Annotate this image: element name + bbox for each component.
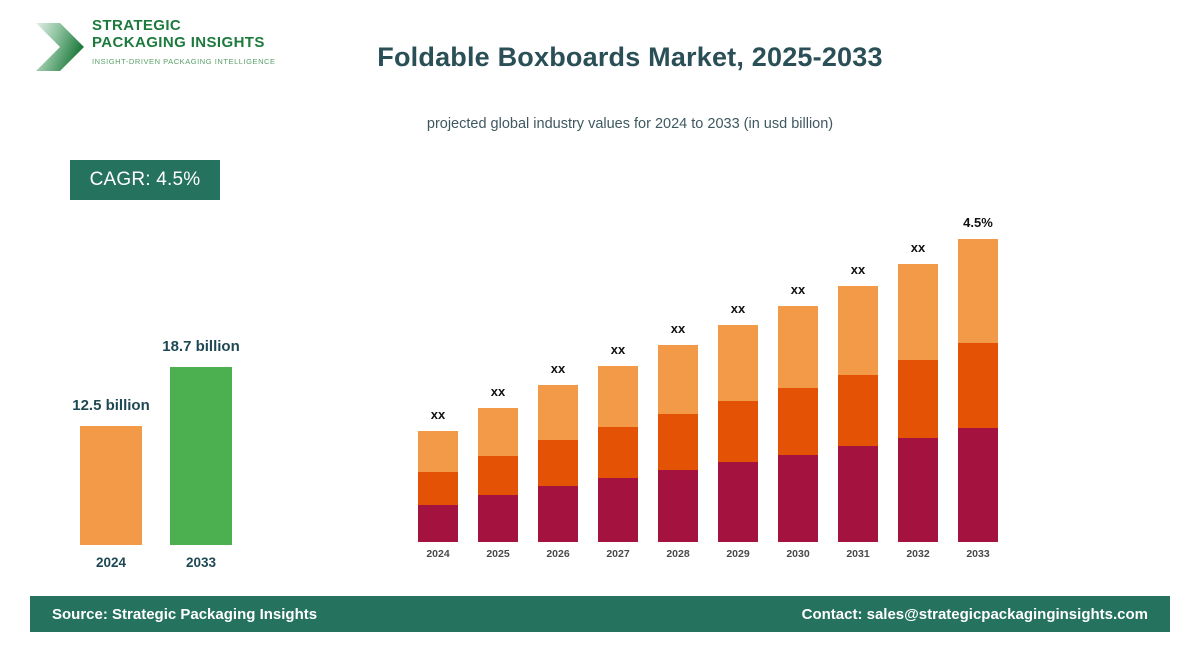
stacked-bar-segment-top bbox=[658, 345, 698, 414]
stacked-bar-segment-top bbox=[718, 325, 758, 401]
stacked-bar-year-label: 2024 bbox=[412, 548, 464, 560]
stacked-bar-segment-bottom bbox=[598, 478, 638, 542]
comparison-bar bbox=[170, 367, 232, 545]
page-title: Foldable Boxboards Market, 2025-2033 bbox=[0, 42, 1200, 73]
stacked-bar-year-label: 2033 bbox=[952, 548, 1004, 560]
stacked-bar-year-label: 2028 bbox=[652, 548, 704, 560]
stacked-bar bbox=[898, 264, 938, 542]
stacked-bar-year-label: 2026 bbox=[532, 548, 584, 560]
stacked-bar-segment-middle bbox=[418, 472, 458, 505]
stacked-bar bbox=[658, 345, 698, 542]
cagr-badge: CAGR: 4.5% bbox=[70, 160, 220, 200]
stacked-bar bbox=[598, 366, 638, 542]
stacked-bar-value-label: xx bbox=[883, 240, 953, 255]
stacked-bar-segment-middle bbox=[598, 427, 638, 478]
stacked-bar-value-label: 4.5% bbox=[943, 215, 1013, 230]
comparison-bar-chart: 202412.5 billion203318.7 billion bbox=[40, 300, 300, 570]
stacked-bar-segment-top bbox=[418, 431, 458, 472]
stacked-bar-year-label: 2032 bbox=[892, 548, 944, 560]
stacked-bar-year-label: 2025 bbox=[472, 548, 524, 560]
stacked-bar-year-label: 2027 bbox=[592, 548, 644, 560]
logo-line-1: STRATEGIC bbox=[92, 18, 276, 35]
stacked-bar-segment-bottom bbox=[958, 428, 998, 542]
stacked-bar-group: 2024xx bbox=[418, 200, 458, 560]
stacked-bar-year-label: 2030 bbox=[772, 548, 824, 560]
stacked-bar-group: 2025xx bbox=[478, 200, 518, 560]
stacked-bar-value-label: xx bbox=[523, 361, 593, 376]
stacked-bar-segment-bottom bbox=[478, 495, 518, 542]
stacked-bar-segment-bottom bbox=[418, 505, 458, 542]
stacked-bar-segment-bottom bbox=[898, 438, 938, 542]
stacked-bar-segment-top bbox=[778, 306, 818, 388]
stacked-bar-value-label: xx bbox=[763, 282, 833, 297]
stacked-bar-value-label: xx bbox=[463, 384, 533, 399]
stacked-bar-group: 2031xx bbox=[838, 200, 878, 560]
stacked-bar-value-label: xx bbox=[403, 407, 473, 422]
stacked-bar-value-label: xx bbox=[703, 301, 773, 316]
stacked-bar bbox=[958, 239, 998, 542]
stacked-bar-segment-top bbox=[958, 239, 998, 343]
stacked-bar bbox=[838, 286, 878, 542]
stacked-bar bbox=[538, 385, 578, 542]
stacked-bar-segment-top bbox=[598, 366, 638, 427]
stacked-bar-group: 2028xx bbox=[658, 200, 698, 560]
stacked-bar-segment-middle bbox=[898, 360, 938, 438]
stacked-bar-segment-middle bbox=[778, 388, 818, 455]
comparison-bar bbox=[80, 426, 142, 545]
stacked-bar-segment-middle bbox=[838, 375, 878, 446]
stacked-bar-chart: 2024xx2025xx2026xx2027xx2028xx2029xx2030… bbox=[400, 200, 1020, 560]
stacked-bar-group: 2032xx bbox=[898, 200, 938, 560]
footer-contact: Contact: sales@strategicpackaginginsight… bbox=[802, 606, 1148, 623]
stacked-bar-segment-top bbox=[838, 286, 878, 375]
footer-source: Source: Strategic Packaging Insights bbox=[52, 606, 317, 623]
stacked-bar-value-label: xx bbox=[823, 262, 893, 277]
comparison-year-label: 2024 bbox=[80, 555, 142, 570]
comparison-year-label: 2033 bbox=[170, 555, 232, 570]
stacked-bar-segment-middle bbox=[718, 401, 758, 462]
stacked-bar-group: 2029xx bbox=[718, 200, 758, 560]
stacked-bar-segment-bottom bbox=[658, 470, 698, 542]
stacked-bar-value-label: xx bbox=[583, 342, 653, 357]
stacked-bar-segment-top bbox=[538, 385, 578, 440]
stacked-bar-group: 2027xx bbox=[598, 200, 638, 560]
stacked-bar-group: 20334.5% bbox=[958, 200, 998, 560]
stacked-bar bbox=[418, 431, 458, 542]
stacked-bar bbox=[778, 306, 818, 542]
stacked-bar-segment-middle bbox=[958, 343, 998, 428]
stacked-bar-segment-middle bbox=[538, 440, 578, 486]
comparison-value-label: 18.7 billion bbox=[121, 338, 281, 355]
stacked-bar-segment-top bbox=[898, 264, 938, 360]
stacked-bar-year-label: 2029 bbox=[712, 548, 764, 560]
stacked-bar-segment-bottom bbox=[778, 455, 818, 542]
stacked-bar-segment-top bbox=[478, 408, 518, 456]
stacked-bar-group: 2030xx bbox=[778, 200, 818, 560]
footer-bar: Source: Strategic Packaging Insights Con… bbox=[30, 596, 1170, 632]
stacked-bar-segment-bottom bbox=[538, 486, 578, 542]
stacked-bar-segment-middle bbox=[478, 456, 518, 495]
stacked-bar bbox=[718, 325, 758, 542]
stacked-bar-year-label: 2031 bbox=[832, 548, 884, 560]
stacked-bar-segment-bottom bbox=[838, 446, 878, 542]
stacked-bar-value-label: xx bbox=[643, 321, 713, 336]
comparison-value-label: 12.5 billion bbox=[31, 397, 191, 414]
stacked-bar-group: 2026xx bbox=[538, 200, 578, 560]
stacked-bar-segment-bottom bbox=[718, 462, 758, 542]
stacked-bar-segment-middle bbox=[658, 414, 698, 470]
stacked-bar bbox=[478, 408, 518, 542]
page-subtitle: projected global industry values for 202… bbox=[0, 116, 1200, 132]
